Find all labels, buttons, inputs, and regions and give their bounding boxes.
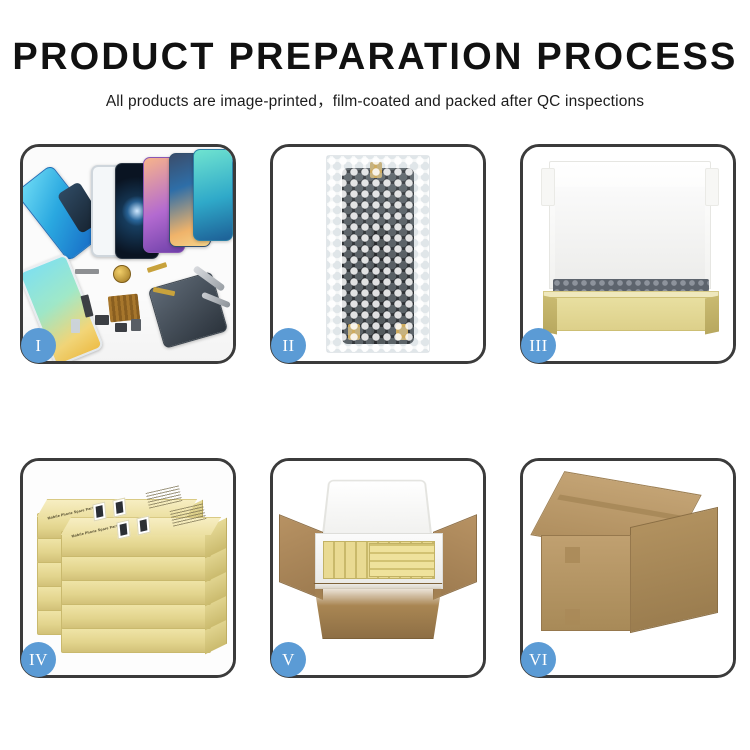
step-panel-3[interactable]: III: [520, 144, 736, 364]
buzzer-part: [115, 323, 127, 332]
step-badge-3: III: [521, 328, 556, 363]
step-image-3: [523, 147, 733, 361]
page-header: PRODUCT PREPARATION PROCESS All products…: [0, 0, 750, 111]
box-label-screen-image-b: [136, 515, 150, 535]
bubble-wrap-bag: [326, 155, 430, 353]
carton-body: [305, 583, 451, 639]
carton-left-face: [541, 535, 631, 631]
step-panel-1[interactable]: I: [20, 144, 236, 364]
step-panel-5[interactable]: V: [270, 458, 486, 678]
step-image-1: [23, 147, 233, 361]
page-title: PRODUCT PREPARATION PROCESS: [0, 38, 750, 78]
battery-connector-part: [75, 269, 99, 274]
speaker-part: [95, 315, 109, 325]
foam-lid: [321, 480, 432, 541]
step-image-2: [273, 147, 483, 361]
sim-tray-part: [131, 319, 141, 331]
step-panel-4[interactable]: Mobile Phone Spare Parts Mobile Phone Sp…: [20, 458, 236, 678]
process-steps-grid: I II: [20, 144, 736, 678]
yellow-boxes-row-b: [369, 543, 435, 577]
bubble-texture: [327, 156, 429, 352]
yellow-box-body: [543, 297, 719, 331]
step-image-6: [523, 461, 733, 675]
step-badge-1: I: [21, 328, 56, 363]
step-panel-6[interactable]: VI: [520, 458, 736, 678]
box-label-screen-image-b: [112, 497, 126, 517]
foam-liner: [555, 187, 705, 287]
box-label-screen-image-a: [116, 519, 130, 539]
vibration-motor-icon: [113, 265, 131, 283]
page-subtitle: All products are image-printed，film-coat…: [0, 89, 750, 111]
box-stack: Mobile Phone Spare Parts Mobile Phone Sp…: [31, 477, 227, 663]
step-badge-6: VI: [521, 642, 556, 677]
step-image-4: Mobile Phone Spare Parts Mobile Phone Sp…: [23, 461, 233, 675]
product-preparation-process-page: PRODUCT PREPARATION PROCESS All products…: [0, 0, 750, 750]
carton-tape-lower: [565, 609, 580, 625]
carton-tape-upper: [565, 547, 580, 563]
step-panel-2[interactable]: II: [270, 144, 486, 364]
carton-right-face: [630, 507, 718, 633]
step-image-5: [273, 461, 483, 675]
small-screw-part: [71, 319, 80, 333]
step-badge-4: IV: [21, 642, 56, 677]
flex-cable-part: [147, 262, 168, 273]
step-badge-5: V: [271, 642, 306, 677]
phone-green-display-icon: [193, 149, 233, 241]
box-label-screen-image-a: [92, 501, 106, 521]
step-badge-2: II: [271, 328, 306, 363]
